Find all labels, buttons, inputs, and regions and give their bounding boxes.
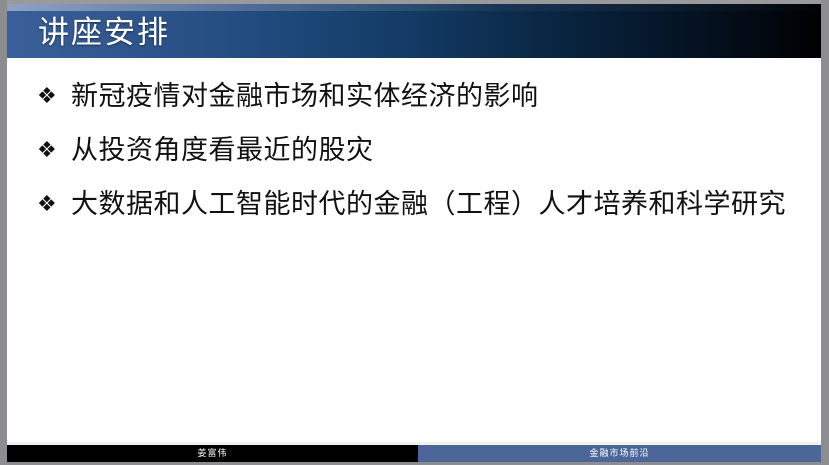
bullet-item: ❖ 大数据和人工智能时代的金融（工程）人才培养和科学研究 [37, 185, 799, 223]
header-highlight-strip [7, 4, 821, 11]
bullet-item-label: 大数据和人工智能时代的金融（工程）人才培养和科学研究 [71, 185, 799, 223]
footer-presenter-name: 姜富伟 [197, 445, 227, 462]
bullet-item-label: 从投资角度看最近的股灾 [71, 131, 799, 169]
footer-presenter-bar: 姜富伟 [7, 445, 418, 462]
bullet-list: ❖ 新冠疫情对金融市场和实体经济的影响 ❖ 从投资角度看最近的股灾 ❖ 大数据和… [37, 77, 799, 223]
diamond-bullet-icon: ❖ [37, 77, 71, 115]
diamond-bullet-icon: ❖ [37, 185, 71, 223]
slide-frame-right [821, 0, 829, 465]
bullet-item: ❖ 新冠疫情对金融市场和实体经济的影响 [37, 77, 799, 115]
slide-frame-left [0, 0, 7, 465]
slide-header-bar: 讲座安排 [7, 4, 821, 58]
presentation-slide: 讲座安排 ❖ 新冠疫情对金融市场和实体经济的影响 ❖ 从投资角度看最近的股灾 ❖… [0, 0, 829, 465]
bullet-item-label: 新冠疫情对金融市场和实体经济的影响 [71, 77, 799, 115]
diamond-bullet-icon: ❖ [37, 131, 71, 169]
footer-topic-bar: 金融市场前沿 [418, 445, 821, 462]
slide-body: ❖ 新冠疫情对金融市场和实体经济的影响 ❖ 从投资角度看最近的股灾 ❖ 大数据和… [7, 58, 821, 445]
slide-title: 讲座安排 [38, 13, 170, 53]
footer-topic-name: 金融市场前沿 [589, 445, 649, 462]
bullet-item: ❖ 从投资角度看最近的股灾 [37, 131, 799, 169]
